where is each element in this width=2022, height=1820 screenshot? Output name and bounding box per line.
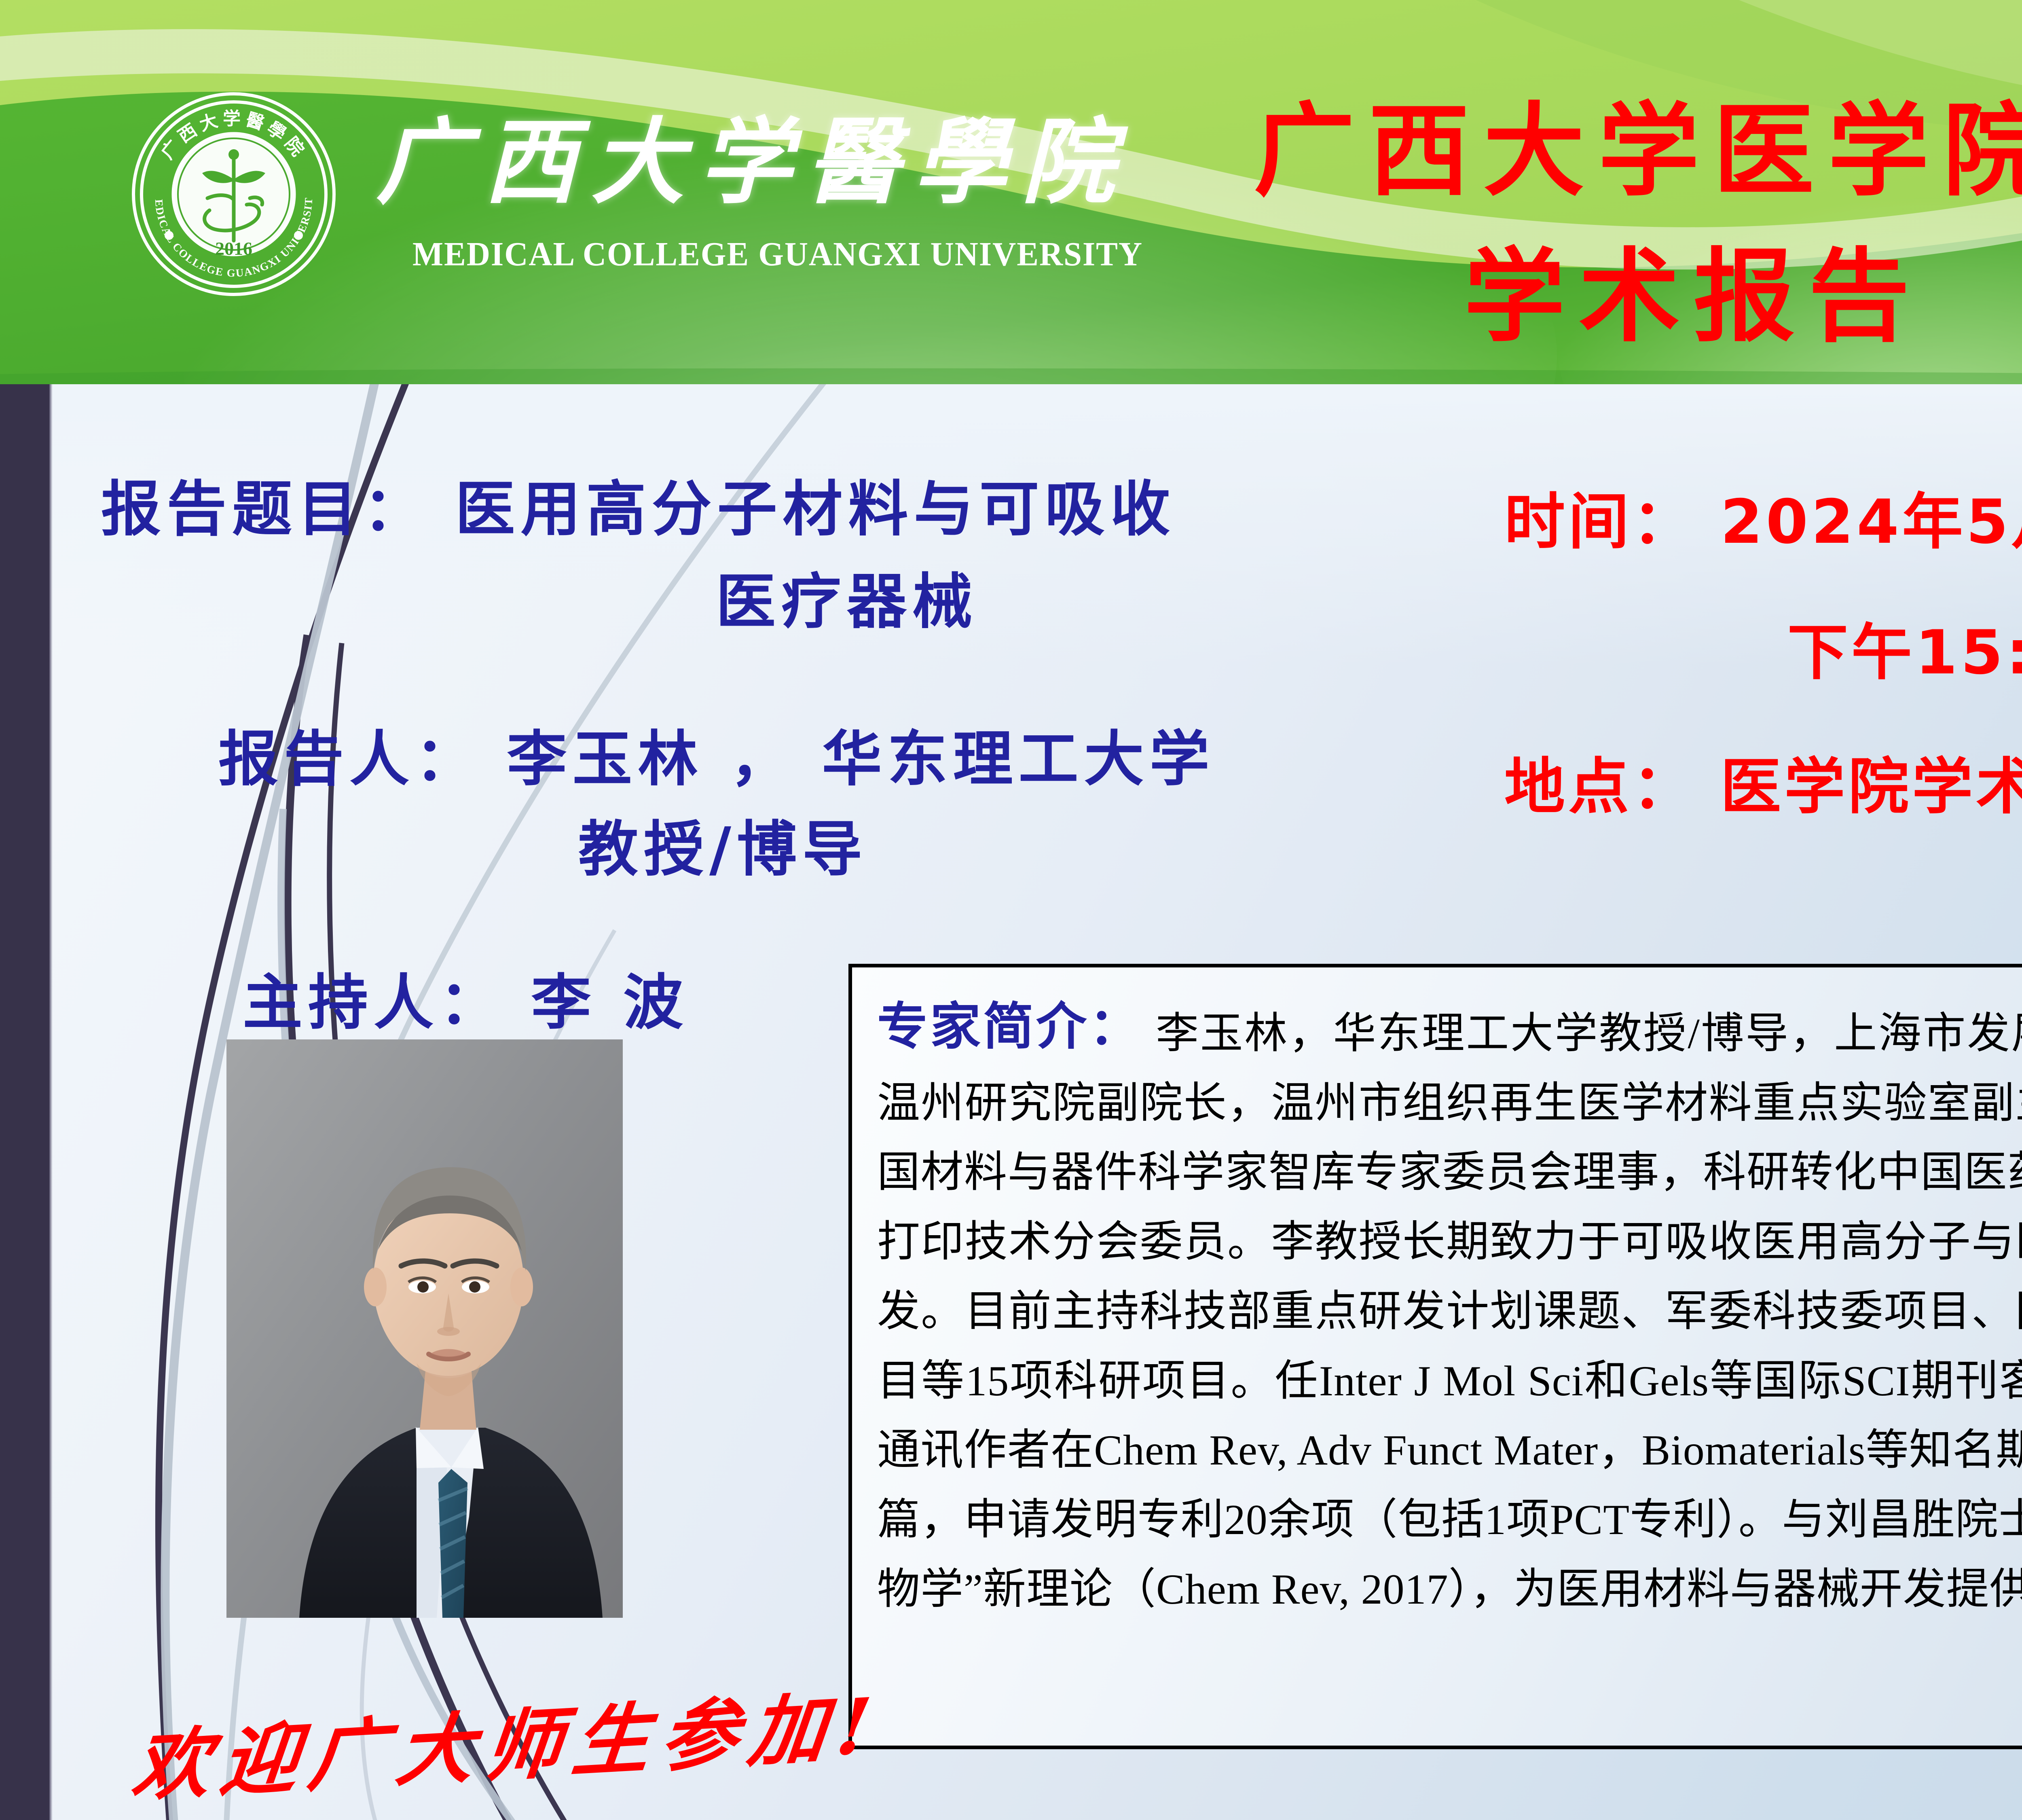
- talk-title-line1: 报告题目： 医用高分子材料与可吸收: [101, 465, 1496, 554]
- college-seal-logo: 2016 广西大学醫學院 MEDICAL COLLEGE GUANGXI UNI…: [129, 77, 339, 311]
- speaker-bio-box: 专家简介： 李玉林，华东理工大学教授/博导，上海市发展人才，上海大学温州研究院副…: [848, 964, 2022, 1749]
- talk-speaker-line2: 教授/博导: [578, 805, 1496, 894]
- poster-header: 2016 广西大学醫學院 MEDICAL COLLEGE GUANGXI UNI…: [0, 0, 2022, 384]
- talk-speaker-line1: 报告人： 李玉林 ， 华东理工大学: [218, 715, 1496, 804]
- poster-title-line1: 广西大学医学院: [1254, 69, 2022, 215]
- logistics-time-line2: 下午15:00: [1787, 612, 2022, 694]
- svg-text:2016: 2016: [215, 238, 252, 259]
- talk-info-block: 报告题目： 医用高分子材料与可吸收 医疗器械 报告人： 李玉林 ， 华东理工大学…: [101, 465, 1496, 1047]
- logistics-block: 时间： 2024年5月15日 下午15:00 地点： 医学院学术报告厅: [1504, 481, 2022, 828]
- logistics-place-line: 地点： 医学院学术报告厅: [1504, 746, 2022, 828]
- bio-heading: 专家简介：: [877, 1001, 1142, 1052]
- poster-title-line2: 学术报告: [1464, 214, 1923, 361]
- portrait-image: [226, 1039, 623, 1618]
- academic-lecture-poster: 2016 广西大学醫學院 MEDICAL COLLEGE GUANGXI UNI…: [0, 0, 2022, 1820]
- bio-body-text: 李玉林，华东理工大学教授/博导，上海市发展人才，上海大学温州研究院副院长，温州市…: [877, 999, 2022, 1624]
- college-name-cn: 广西大学醫學院: [376, 87, 1129, 222]
- talk-title-line2: 医疗器械: [716, 558, 1496, 646]
- speaker-portrait-photo: [226, 1039, 623, 1618]
- logistics-time-line1: 时间： 2024年5月15日: [1504, 481, 2022, 563]
- college-name-en: MEDICAL COLLEGE GUANGXI UNIVERSITY: [412, 235, 1143, 274]
